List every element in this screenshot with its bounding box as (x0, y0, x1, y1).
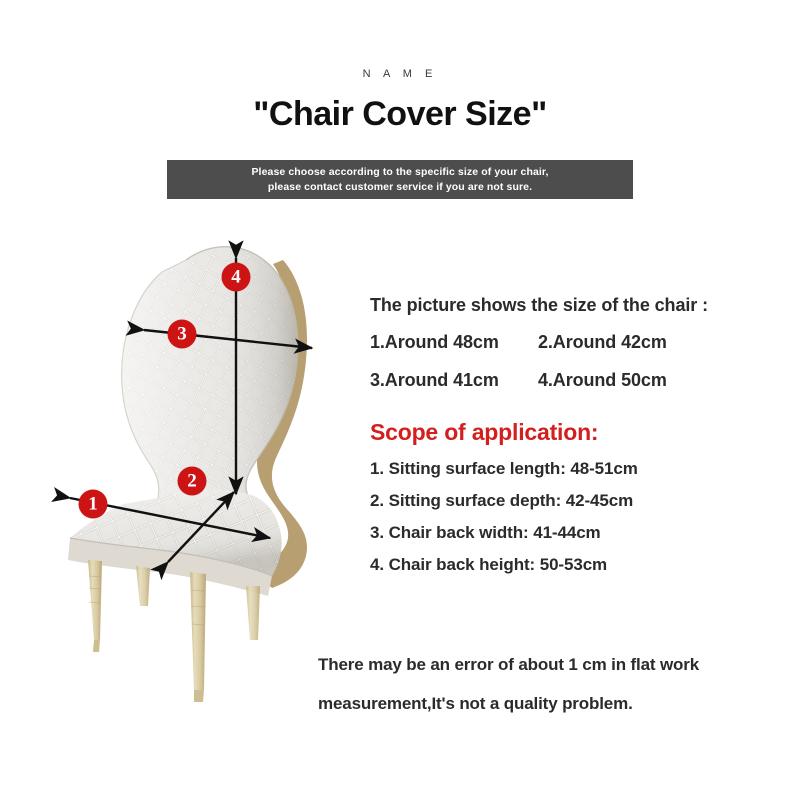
marker-2: 2 (178, 467, 207, 496)
around-3-label: 3.Around 41cm (370, 370, 538, 391)
around-row-1: 1.Around 48cm 2.Around 42cm (370, 332, 790, 353)
around-1-label: 1.Around 48cm (370, 332, 538, 353)
around-row-2: 3.Around 41cm 4.Around 50cm (370, 370, 790, 391)
chair-cover-size-page: N A M E "Chair Cover Size" Please choose… (0, 0, 800, 800)
disclaimer-line-1: There may be an error of about 1 cm in f… (318, 645, 788, 684)
scope-list: 1. Sitting surface length: 48-51cm 2. Si… (370, 460, 790, 573)
scope-item-2: 2. Sitting surface depth: 42-45cm (370, 492, 790, 509)
marker-1-label: 1 (88, 494, 98, 515)
marker-4: 4 (222, 263, 251, 292)
measurement-disclaimer: There may be an error of about 1 cm in f… (318, 645, 788, 723)
page-title: "Chair Cover Size" (0, 95, 800, 134)
notice-banner: Please choose according to the specific … (167, 160, 633, 199)
disclaimer-line-2: measurement,It's not a quality problem. (318, 684, 788, 723)
scope-item-3: 3. Chair back width: 41-44cm (370, 524, 790, 541)
marker-3: 3 (168, 320, 197, 349)
around-4-label: 4.Around 50cm (538, 370, 790, 391)
marker-1: 1 (79, 490, 108, 519)
size-info-column: The picture shows the size of the chair … (370, 296, 790, 588)
chair-illustration-svg: 4 3 2 1 (40, 220, 350, 720)
scope-of-application-heading: Scope of application: (370, 421, 790, 444)
scope-item-4: 4. Chair back height: 50-53cm (370, 556, 790, 573)
around-2-label: 2.Around 42cm (538, 332, 790, 353)
chair-diagram: 4 3 2 1 (40, 220, 350, 720)
marker-2-label: 2 (187, 471, 197, 492)
marker-3-label: 3 (177, 324, 187, 345)
notice-banner-line-1: Please choose according to the specific … (251, 165, 548, 180)
scope-item-1: 1. Sitting surface length: 48-51cm (370, 460, 790, 477)
size-info-lead: The picture shows the size of the chair … (370, 296, 790, 314)
marker-4-label: 4 (231, 267, 241, 288)
brand-eyebrow: N A M E (0, 68, 800, 80)
notice-banner-line-2: please contact customer service if you a… (268, 180, 532, 195)
